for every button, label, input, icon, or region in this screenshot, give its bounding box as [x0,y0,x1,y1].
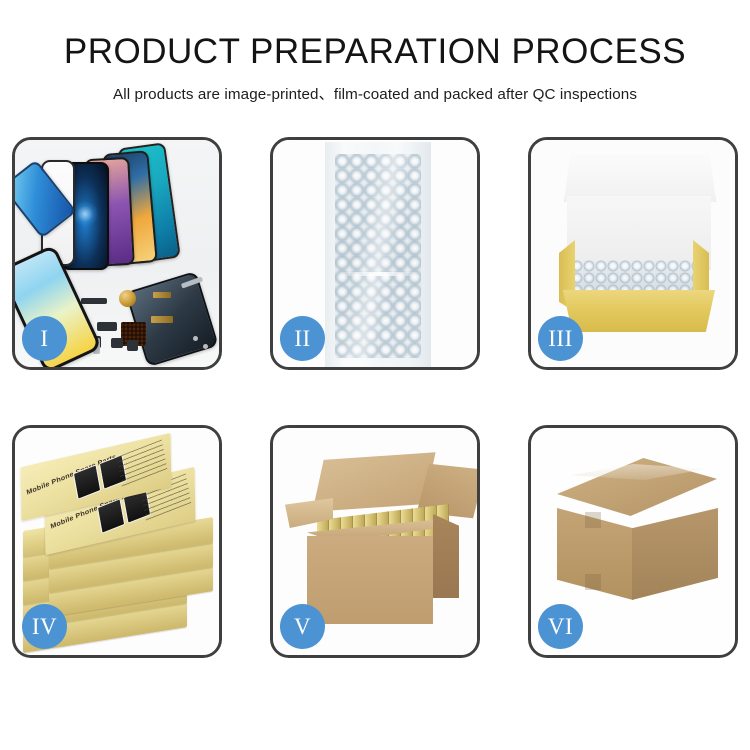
process-step-panel-4: Mobile Phone Spare Parts Mobile Phone Sp… [12,425,222,658]
earpiece-mesh-part [127,340,138,351]
process-step-panel-3: III [528,137,738,370]
battery-strip-part [81,298,107,304]
step-badge-5: V [280,604,325,649]
screw-part-2 [203,344,208,349]
step-6-image: VI [531,428,735,655]
process-step-panel-5: V [270,425,480,658]
product-preparation-page: PRODUCT PREPARATION PROCESS All products… [0,0,750,750]
process-step-panel-6: VI [528,425,738,658]
step-badge-6: VI [538,604,583,649]
page-subtitle: All products are image-printed、film-coat… [0,82,750,104]
step-badge-3: III [538,316,583,361]
vibration-motor-part [111,338,123,348]
speaker-coil-part [119,290,136,307]
step-3-image: III [531,140,735,367]
step-badge-4: IV [22,604,67,649]
process-step-grid: I II [12,137,738,658]
step-1-image: I [15,140,219,367]
page-title: PRODUCT PREPARATION PROCESS [0,34,750,71]
mailer-box-front-panel [563,290,715,332]
step-5-image: V [273,428,477,655]
header: PRODUCT PREPARATION PROCESS All products… [0,34,750,104]
plastic-sheen-highlight [325,142,431,367]
step-4-image: Mobile Phone Spare Parts Mobile Phone Sp… [15,428,219,655]
flex-cable-part-1 [153,292,171,298]
camera-module-part [97,322,117,331]
carton-seam-mark-lower [585,574,601,590]
mailer-box-inner-wall [567,196,711,270]
step-badge-2: II [280,316,325,361]
bubble-wrap-sleeve [325,142,431,367]
mailer-box-lid [564,154,716,202]
carton-front-face [307,536,433,624]
flex-cable-part-2 [151,316,173,323]
box-spec-lines-top [117,439,168,487]
bubble-wrapped-product [571,260,707,294]
step-2-image: II [273,140,477,367]
bubble-pattern-inbox [571,260,707,294]
carton-right-face [433,514,459,598]
step-badge-1: I [22,316,67,361]
process-step-panel-2: II [270,137,480,370]
process-step-panel-1: I [12,137,222,370]
screw-part-1 [193,336,198,341]
carton-seam-mark-upper [585,512,601,528]
